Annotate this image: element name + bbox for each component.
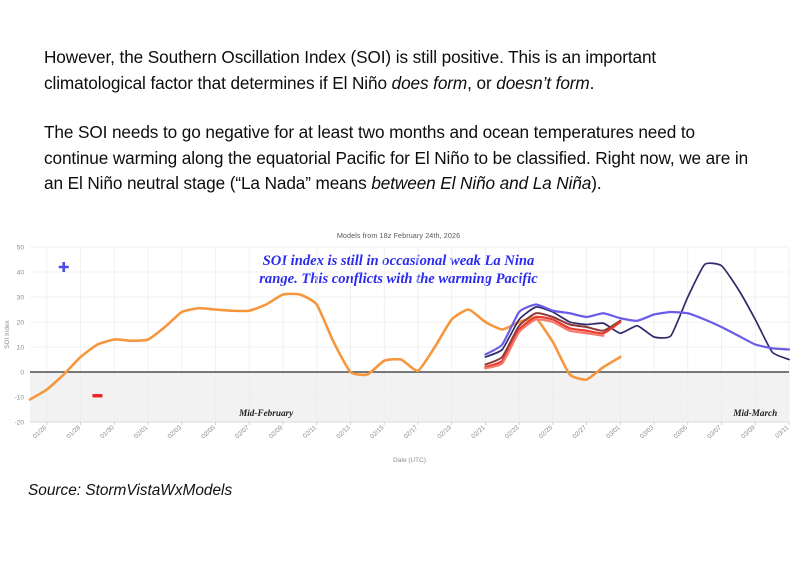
y-axis-title: SOI Index xyxy=(4,319,11,348)
y-axis-tick-label: 30 xyxy=(17,294,25,301)
y-axis-tick-label: 40 xyxy=(17,269,25,276)
positive-phase-marker xyxy=(59,262,69,272)
paragraph-2: The SOI needs to go negative for at leas… xyxy=(44,120,756,197)
slide-text-block: However, the Southern Oscillation Index … xyxy=(44,28,756,214)
x-axis-tick-label: 02/09 xyxy=(268,424,285,440)
x-axis-tick-label: 02/23 xyxy=(504,424,521,440)
x-axis-tick-label: 02/19 xyxy=(436,424,453,440)
x-axis-tick-label: 01/28 xyxy=(65,424,82,440)
x-axis-tick-label: 03/01 xyxy=(605,424,622,440)
x-axis-title: Date (UTC) xyxy=(393,457,426,464)
x-axis-tick-label: 02/15 xyxy=(369,424,386,440)
paragraph-1-text-c: . xyxy=(590,73,595,93)
paragraph-2-text-b: ). xyxy=(591,173,601,193)
x-axis-tick-label: 03/07 xyxy=(706,424,723,440)
x-axis-tick-label: 02/11 xyxy=(302,424,319,440)
y-axis-tick-label: -10 xyxy=(14,394,24,401)
month-marker-label: Mid-February xyxy=(238,408,294,418)
paragraph-1-emphasis-a: does form xyxy=(392,73,468,93)
x-axis-tick-label: 02/25 xyxy=(538,424,555,440)
y-axis-tick-label: 10 xyxy=(17,344,25,351)
y-axis-tick-label: 0 xyxy=(20,369,24,376)
x-axis-tick-label: 02/27 xyxy=(571,424,588,440)
paragraph-1: However, the Southern Oscillation Index … xyxy=(44,45,756,96)
paragraph-2-emphasis-a: between El Niño and La Niña xyxy=(371,173,591,193)
y-axis-tick-label: 20 xyxy=(17,319,25,326)
paragraph-1-emphasis-b: doesn’t form xyxy=(496,73,589,93)
x-axis-tick-label: 01/30 xyxy=(99,424,116,440)
x-axis-tick-label: 02/03 xyxy=(167,424,184,440)
x-axis-tick-label: 02/05 xyxy=(200,424,217,440)
series-line xyxy=(485,263,789,359)
x-axis-tick-label: 03/05 xyxy=(673,424,690,440)
source-credit: Source: StormVistaWxModels xyxy=(28,482,232,500)
x-axis-tick-label: 02/17 xyxy=(403,424,420,440)
x-axis-tick-label: 02/13 xyxy=(335,424,352,440)
y-axis-tick-label: 50 xyxy=(17,244,25,251)
x-axis-tick-label: 01/26 xyxy=(32,424,49,440)
month-marker-label: Mid-March xyxy=(732,408,777,418)
x-axis-tick-label: 03/11 xyxy=(774,424,791,440)
x-axis-tick-label: 02/07 xyxy=(234,424,251,440)
x-axis-tick-label: 02/01 xyxy=(133,424,150,440)
soi-chart: Models from 18z February 24th, 2026 SOI … xyxy=(0,222,797,472)
y-axis-tick-label: -20 xyxy=(14,419,24,426)
x-axis-tick-label: 02/21 xyxy=(470,424,487,440)
x-axis-tick-label: 03/09 xyxy=(740,424,757,440)
chart-plot-area: 50403020100-10-2001/2601/2801/3002/0102/… xyxy=(0,222,797,472)
x-axis-tick-label: 03/03 xyxy=(639,424,656,440)
paragraph-1-text-b: , or xyxy=(467,73,496,93)
